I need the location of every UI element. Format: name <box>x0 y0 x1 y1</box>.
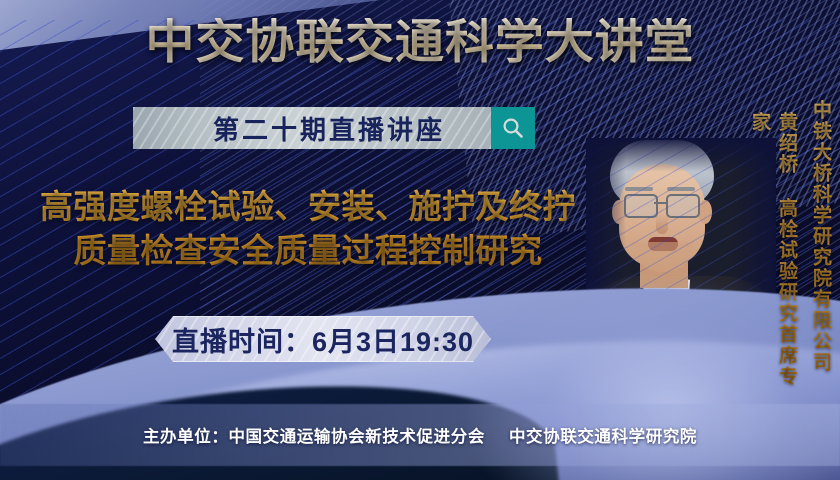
speaker-organization: 中铁大桥科学研究院有限公司 <box>807 100 834 400</box>
headline: 高强度螺栓试验、安装、施拧及终拧 质量检查安全质量过程控制研究 <box>8 185 608 272</box>
footer-prefix: 主办单位： <box>143 428 229 446</box>
speaker-name-role: 黄绍桥 高栓试验研究首席专家 <box>746 112 800 397</box>
footer-org-2: 中交协联交通科学研究院 <box>509 428 697 446</box>
subtitle-bar-body: 第二十期直播讲座 <box>133 107 491 149</box>
headline-line-2: 质量检查安全质量过程控制研究 <box>8 229 608 273</box>
subtitle-label: 第二十期直播讲座 <box>133 107 491 149</box>
footer-org-1: 中国交通运输协会新技术促进分会 <box>228 428 485 446</box>
live-time-label: 直播时间：6月3日19:30 <box>155 316 491 362</box>
footer-organizers: 主办单位：中国交通运输协会新技术促进分会中交协联交通科学研究院 <box>0 423 840 447</box>
search-icon[interactable] <box>491 107 535 149</box>
headline-line-1: 高强度螺栓试验、安装、施拧及终拧 <box>40 188 576 225</box>
subtitle-bar: 第二十期直播讲座 <box>133 107 535 149</box>
promotional-poster: 中交协联交通科学大讲堂 中交协联交通科学大讲堂 第二十期直播讲座 高强度螺栓试验… <box>0 0 840 480</box>
page-title: 中交协联交通科学大讲堂 <box>0 18 840 65</box>
live-time-badge: 直播时间：6月3日19:30 <box>155 316 491 362</box>
